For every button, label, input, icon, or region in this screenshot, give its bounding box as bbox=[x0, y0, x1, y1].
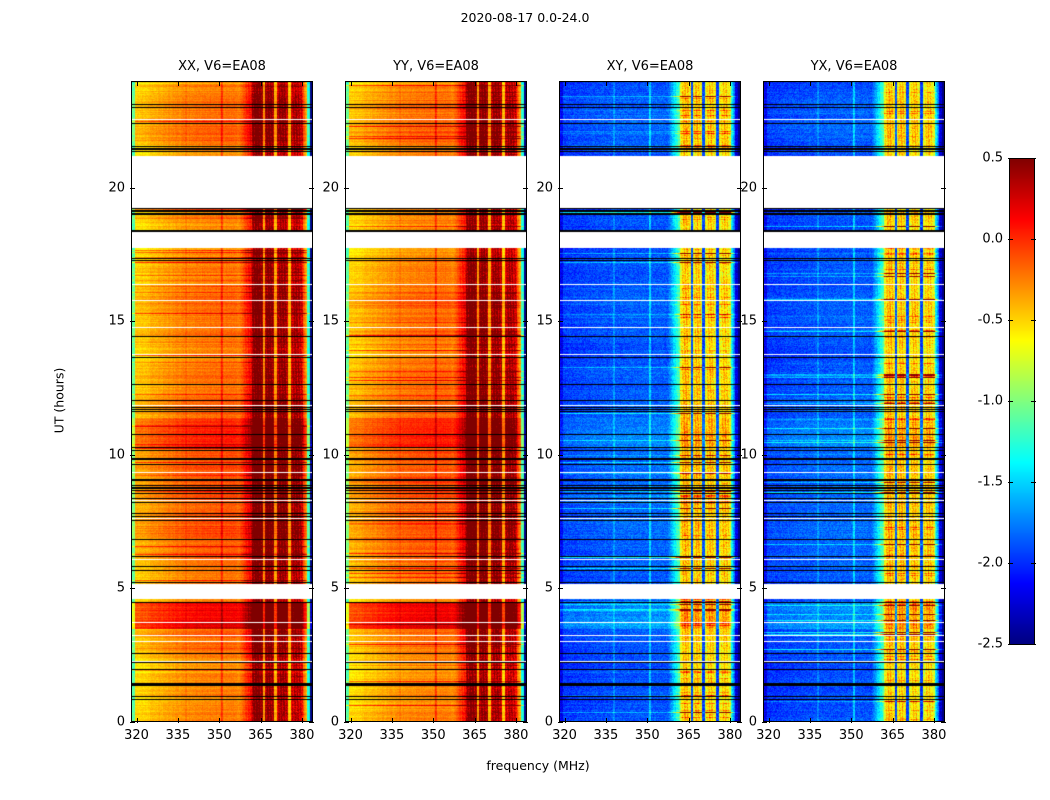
y-tick-label: 0 bbox=[749, 715, 757, 730]
y-tick-mark bbox=[130, 188, 135, 189]
colorbar-tick-mark bbox=[1008, 401, 1013, 402]
y-tick-mark bbox=[344, 722, 349, 723]
x-tick-mark bbox=[475, 81, 476, 86]
y-tick-label: 20 bbox=[536, 180, 553, 195]
y-tick-mark bbox=[558, 321, 563, 322]
panel-title-yy: YY, V6=EA08 bbox=[345, 59, 527, 74]
y-tick-mark bbox=[762, 321, 767, 322]
x-tick-mark bbox=[565, 718, 566, 723]
y-tick-mark bbox=[309, 722, 314, 723]
x-tick-label: 380 bbox=[718, 728, 743, 743]
x-tick-mark bbox=[934, 81, 935, 86]
x-tick-label: 335 bbox=[797, 728, 822, 743]
x-tick-label: 365 bbox=[880, 728, 905, 743]
colorbar-tick-mark bbox=[1031, 644, 1036, 645]
x-tick-mark bbox=[851, 718, 852, 723]
x-tick-mark bbox=[810, 718, 811, 723]
x-tick-label: 350 bbox=[635, 728, 660, 743]
x-tick-mark bbox=[475, 718, 476, 723]
y-tick-label: 10 bbox=[322, 447, 339, 462]
x-tick-label: 335 bbox=[593, 728, 618, 743]
y-tick-mark bbox=[558, 722, 563, 723]
panel-yy[interactable]: YY, V6=EA0832033535036538005101520 bbox=[345, 81, 527, 722]
x-tick-label: 320 bbox=[124, 728, 149, 743]
colorbar-tick-mark bbox=[1031, 320, 1036, 321]
y-tick-mark bbox=[344, 321, 349, 322]
colorbar-tick-mark bbox=[1031, 482, 1036, 483]
colorbar-tick-mark bbox=[1031, 401, 1036, 402]
x-tick-mark bbox=[606, 718, 607, 723]
y-tick-mark bbox=[130, 588, 135, 589]
colorbar-tick-mark bbox=[1008, 482, 1013, 483]
x-tick-label: 380 bbox=[922, 728, 947, 743]
y-tick-label: 15 bbox=[536, 314, 553, 329]
y-tick-label: 15 bbox=[322, 314, 339, 329]
x-tick-mark bbox=[433, 718, 434, 723]
x-tick-label: 365 bbox=[676, 728, 701, 743]
x-tick-mark bbox=[893, 718, 894, 723]
x-tick-mark bbox=[565, 81, 566, 86]
colorbar-tick-label: -2.0 bbox=[978, 556, 1003, 571]
y-tick-mark bbox=[762, 722, 767, 723]
colorbar-tick-mark bbox=[1031, 563, 1036, 564]
x-tick-mark bbox=[137, 81, 138, 86]
y-tick-mark bbox=[344, 188, 349, 189]
x-tick-mark bbox=[433, 81, 434, 86]
waterfall-image-xx bbox=[131, 81, 313, 722]
y-tick-label: 20 bbox=[322, 180, 339, 195]
x-tick-label: 365 bbox=[462, 728, 487, 743]
colorbar-tick-mark bbox=[1008, 320, 1013, 321]
colorbar-tick-label: 0.5 bbox=[982, 151, 1003, 166]
x-tick-mark bbox=[302, 718, 303, 723]
x-tick-mark bbox=[392, 81, 393, 86]
panel-title-xx: XX, V6=EA08 bbox=[131, 59, 313, 74]
y-tick-mark bbox=[130, 722, 135, 723]
y-tick-mark bbox=[762, 455, 767, 456]
y-tick-mark bbox=[941, 722, 946, 723]
y-tick-mark bbox=[737, 722, 742, 723]
y-tick-mark bbox=[558, 188, 563, 189]
x-tick-mark bbox=[689, 718, 690, 723]
colorbar-tick-label: -0.5 bbox=[978, 313, 1003, 328]
x-tick-mark bbox=[178, 81, 179, 86]
x-tick-label: 380 bbox=[290, 728, 315, 743]
colorbar-tick-label: -1.5 bbox=[978, 475, 1003, 490]
y-tick-label: 10 bbox=[536, 447, 553, 462]
figure-suptitle: 2020-08-17 0.0-24.0 bbox=[0, 10, 1050, 25]
y-tick-mark bbox=[130, 321, 135, 322]
y-tick-label: 15 bbox=[740, 314, 757, 329]
x-tick-mark bbox=[351, 718, 352, 723]
y-tick-mark bbox=[558, 455, 563, 456]
colorbar-tick-mark bbox=[1008, 563, 1013, 564]
y-tick-mark bbox=[941, 321, 946, 322]
colorbar-tick-label: -1.0 bbox=[978, 394, 1003, 409]
y-tick-label: 10 bbox=[108, 447, 125, 462]
y-tick-label: 15 bbox=[108, 314, 125, 329]
colorbar[interactable]: 0.50.0-0.5-1.0-1.5-2.0-2.5 bbox=[1009, 158, 1035, 645]
colorbar-tick-mark bbox=[1031, 158, 1036, 159]
x-tick-mark bbox=[351, 81, 352, 86]
x-axis-label: frequency (MHz) bbox=[131, 758, 945, 773]
x-tick-mark bbox=[302, 81, 303, 86]
x-tick-mark bbox=[769, 81, 770, 86]
y-tick-label: 10 bbox=[740, 447, 757, 462]
x-tick-label: 320 bbox=[338, 728, 363, 743]
x-tick-label: 350 bbox=[421, 728, 446, 743]
x-tick-mark bbox=[606, 81, 607, 86]
x-tick-mark bbox=[516, 718, 517, 723]
x-tick-mark bbox=[178, 718, 179, 723]
y-tick-mark bbox=[523, 188, 528, 189]
waterfall-image-yy bbox=[345, 81, 527, 722]
colorbar-tick-mark bbox=[1008, 239, 1013, 240]
y-axis-label: UT (hours) bbox=[52, 320, 67, 480]
y-tick-label: 20 bbox=[108, 180, 125, 195]
x-tick-mark bbox=[893, 81, 894, 86]
y-tick-mark bbox=[941, 188, 946, 189]
y-tick-mark bbox=[309, 321, 314, 322]
x-tick-mark bbox=[769, 718, 770, 723]
colorbar-tick-label: -2.5 bbox=[978, 637, 1003, 652]
y-tick-mark bbox=[344, 588, 349, 589]
y-tick-mark bbox=[523, 321, 528, 322]
y-tick-mark bbox=[941, 588, 946, 589]
x-tick-mark bbox=[219, 718, 220, 723]
x-tick-label: 335 bbox=[165, 728, 190, 743]
panel-xx[interactable]: XX, V6=EA0832033535036538005101520 bbox=[131, 81, 313, 722]
waterfall-image-yx bbox=[763, 81, 945, 722]
y-tick-label: 20 bbox=[740, 180, 757, 195]
x-tick-mark bbox=[647, 81, 648, 86]
x-tick-mark bbox=[934, 718, 935, 723]
colorbar-tick-mark bbox=[1031, 239, 1036, 240]
x-tick-mark bbox=[810, 81, 811, 86]
y-tick-mark bbox=[941, 455, 946, 456]
y-tick-label: 0 bbox=[117, 715, 125, 730]
panel-title-xy: XY, V6=EA08 bbox=[559, 59, 741, 74]
x-tick-label: 350 bbox=[839, 728, 864, 743]
y-tick-label: 5 bbox=[749, 581, 757, 596]
x-tick-label: 320 bbox=[552, 728, 577, 743]
y-tick-label: 5 bbox=[117, 581, 125, 596]
x-tick-mark bbox=[730, 718, 731, 723]
x-tick-label: 350 bbox=[207, 728, 232, 743]
y-tick-mark bbox=[762, 188, 767, 189]
x-tick-mark bbox=[261, 81, 262, 86]
y-tick-mark bbox=[558, 588, 563, 589]
y-tick-label: 0 bbox=[545, 715, 553, 730]
y-tick-mark bbox=[762, 588, 767, 589]
y-tick-mark bbox=[737, 588, 742, 589]
x-tick-label: 335 bbox=[379, 728, 404, 743]
panel-yx[interactable]: YX, V6=EA0832033535036538005101520 bbox=[763, 81, 945, 722]
x-tick-mark bbox=[516, 81, 517, 86]
x-tick-mark bbox=[261, 718, 262, 723]
y-tick-mark bbox=[523, 588, 528, 589]
y-tick-mark bbox=[130, 455, 135, 456]
y-tick-label: 0 bbox=[331, 715, 339, 730]
x-tick-mark bbox=[730, 81, 731, 86]
y-tick-mark bbox=[344, 455, 349, 456]
x-tick-mark bbox=[647, 718, 648, 723]
colorbar-tick-mark bbox=[1008, 644, 1013, 645]
x-tick-label: 365 bbox=[248, 728, 273, 743]
waterfall-image-xy bbox=[559, 81, 741, 722]
colorbar-tick-label: 0.0 bbox=[982, 232, 1003, 247]
x-tick-mark bbox=[219, 81, 220, 86]
y-tick-mark bbox=[523, 455, 528, 456]
panel-xy[interactable]: XY, V6=EA0832033535036538005101520 bbox=[559, 81, 741, 722]
y-tick-mark bbox=[523, 722, 528, 723]
y-tick-mark bbox=[309, 188, 314, 189]
colorbar-tick-mark bbox=[1008, 158, 1013, 159]
y-tick-mark bbox=[309, 588, 314, 589]
x-tick-mark bbox=[137, 718, 138, 723]
y-tick-label: 5 bbox=[331, 581, 339, 596]
x-tick-label: 380 bbox=[504, 728, 529, 743]
panel-title-yx: YX, V6=EA08 bbox=[763, 59, 945, 74]
x-tick-label: 320 bbox=[756, 728, 781, 743]
y-tick-label: 5 bbox=[545, 581, 553, 596]
x-tick-mark bbox=[392, 718, 393, 723]
x-tick-mark bbox=[689, 81, 690, 86]
x-tick-mark bbox=[851, 81, 852, 86]
y-tick-mark bbox=[309, 455, 314, 456]
